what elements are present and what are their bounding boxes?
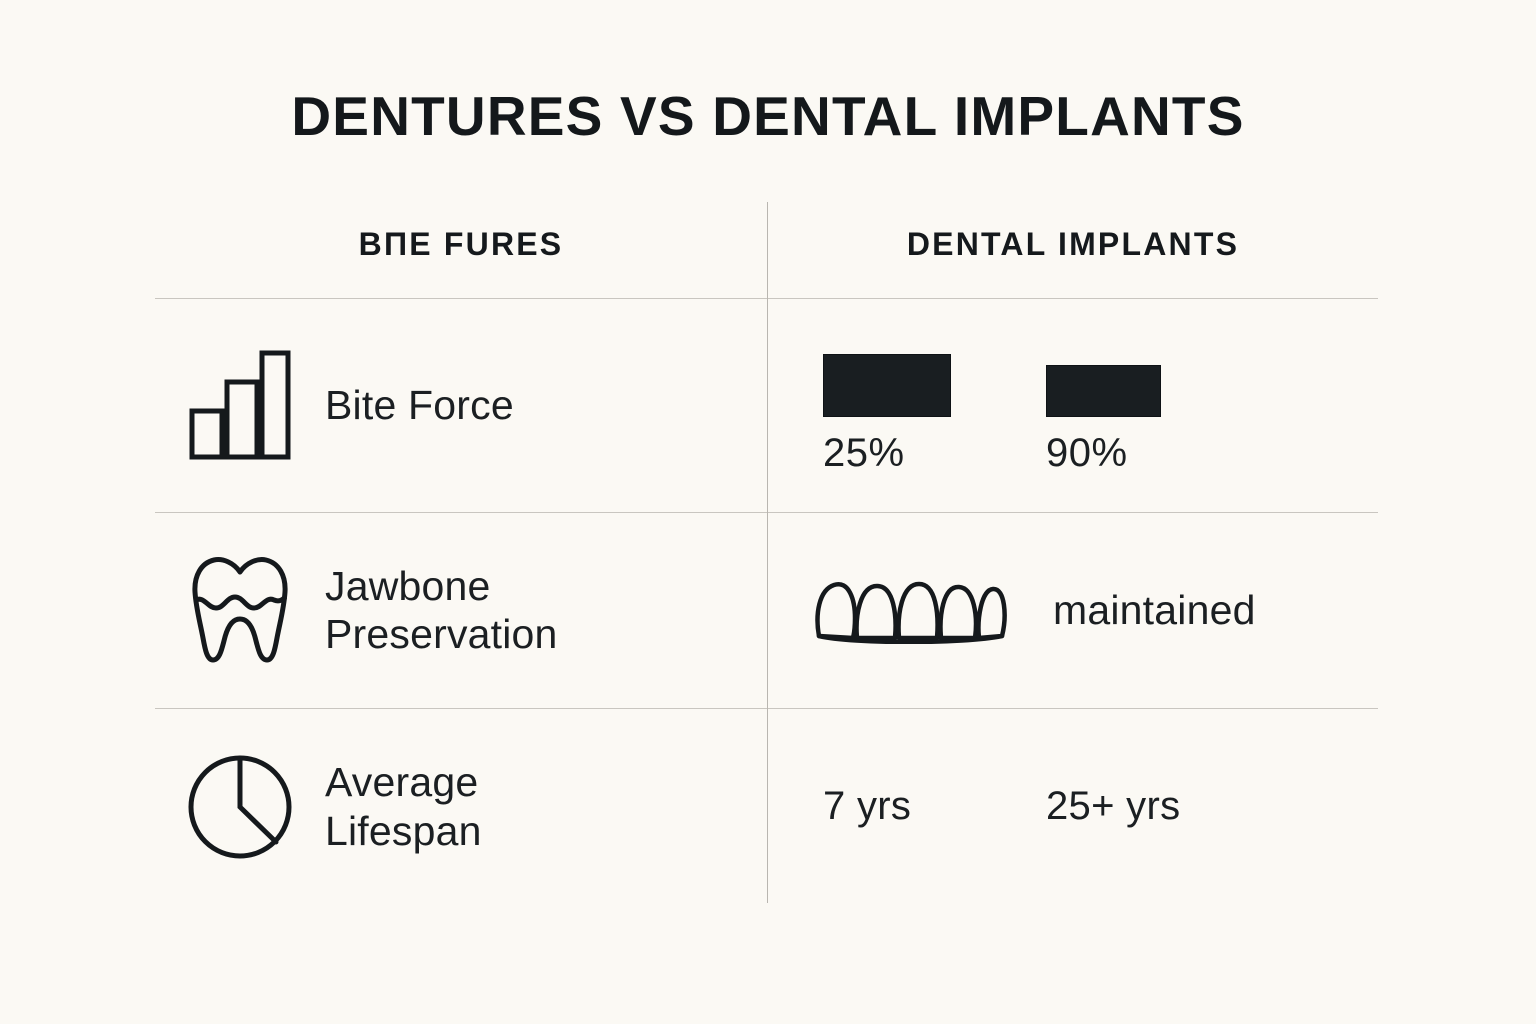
table-row: JawbonePreservation maintain bbox=[155, 512, 1378, 708]
feature-cell: AverageLifespan bbox=[155, 708, 767, 905]
lifespan-dentures: 7 yrs bbox=[823, 784, 911, 829]
feature-label: AverageLifespan bbox=[325, 758, 482, 855]
page-title: DENTURES VS DENTAL IMPLANTS bbox=[0, 88, 1536, 146]
value-cell: maintained bbox=[768, 512, 1378, 708]
bar-chart-icon bbox=[155, 349, 325, 461]
lifespan-values: 7 yrs 25+ yrs bbox=[768, 708, 1378, 905]
bar-dentures bbox=[823, 354, 951, 417]
bite-force-bars: 25% 90% bbox=[768, 298, 1378, 512]
bar-group-dentures: 25% bbox=[823, 354, 951, 476]
pie-chart-icon bbox=[155, 754, 325, 860]
tooth-icon bbox=[155, 556, 325, 664]
infographic-canvas: DENTURES VS DENTAL IMPLANTS BΠE FURES DE… bbox=[0, 0, 1536, 1024]
feature-label: Bite Force bbox=[325, 381, 514, 429]
column-header-implants: DENTAL IMPLANTS bbox=[768, 226, 1378, 263]
jawbone-value: maintained bbox=[768, 512, 1378, 708]
bar-implants bbox=[1046, 365, 1161, 417]
feature-label: JawbonePreservation bbox=[325, 562, 558, 659]
denture-arch-icon bbox=[768, 576, 1053, 644]
feature-cell: Bite Force bbox=[155, 298, 767, 512]
lifespan-implants: 25+ yrs bbox=[1046, 784, 1180, 829]
column-header-features: BΠE FURES bbox=[155, 226, 767, 263]
feature-cell: JawbonePreservation bbox=[155, 512, 767, 708]
jawbone-value-text: maintained bbox=[1053, 587, 1256, 634]
table-row: AverageLifespan 7 yrs 25+ yrs bbox=[155, 708, 1378, 905]
bar-label-dentures: 25% bbox=[823, 431, 951, 476]
bar-label-implants: 90% bbox=[1046, 431, 1161, 476]
value-cell: 25% 90% bbox=[768, 298, 1378, 512]
table-row: Bite Force 25% 90% bbox=[155, 298, 1378, 512]
value-cell: 7 yrs 25+ yrs bbox=[768, 708, 1378, 905]
bar-group-implants: 90% bbox=[1046, 354, 1161, 476]
comparison-table: BΠE FURES DENTAL IMPLANTS Bite Force bbox=[155, 200, 1378, 905]
